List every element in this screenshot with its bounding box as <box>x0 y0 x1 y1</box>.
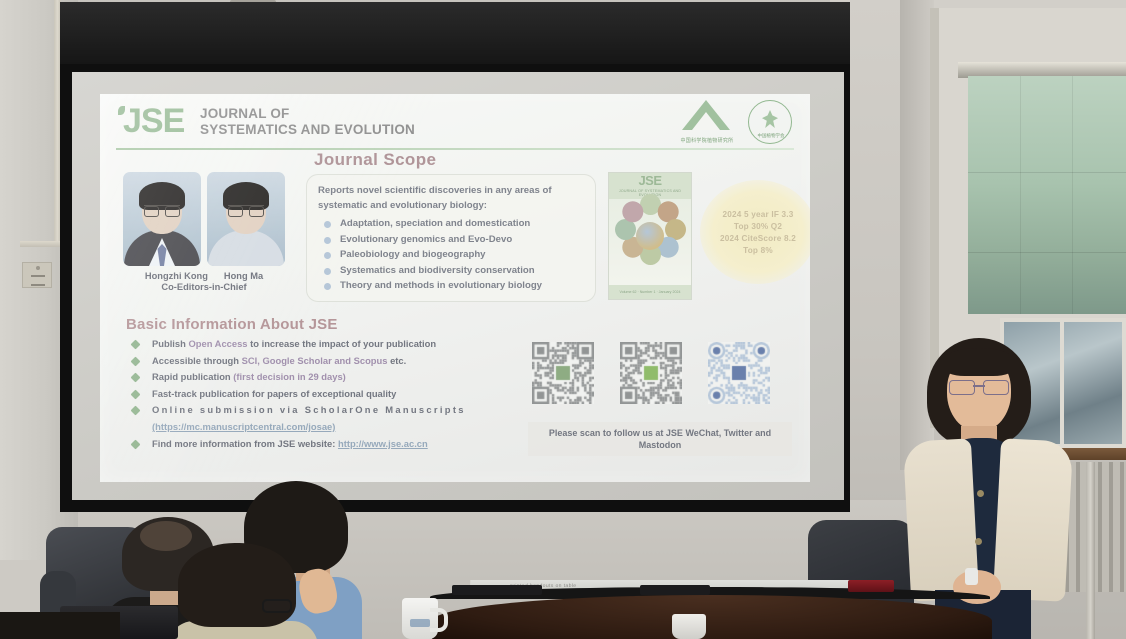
badge-background <box>700 180 810 284</box>
plant-icon <box>762 110 778 128</box>
badge-line-3: 2024 CiteScore 8.2 <box>720 234 796 243</box>
scope-item: Theory and methods in evolutionary biolo… <box>318 278 585 294</box>
badge-line-1: 2024 5 year IF 3.3 <box>723 210 794 219</box>
cover-center-photo <box>636 222 664 250</box>
item-pre: Find more information from JSE website: <box>152 438 338 449</box>
presentation-slide: JSE JOURNAL OF SYSTEMATICS AND EVOLUTION… <box>100 94 810 482</box>
window-blind[interactable] <box>968 76 1126 314</box>
diamond-bullet-icon <box>131 356 141 366</box>
editor1-glasses-icon <box>144 205 180 214</box>
jacket-button <box>977 490 984 497</box>
editor-photo-2 <box>207 172 285 266</box>
scope-item-label: Evolutionary genomics and Evo-Devo <box>340 234 512 245</box>
submission-link-item[interactable]: (https://mc.manuscriptcentral.com/josae) <box>126 421 526 433</box>
jacket-button <box>975 538 982 545</box>
item-pre: Rapid publication <box>152 371 233 382</box>
item-highlight: (first decision in 29 days) <box>233 371 346 382</box>
badge-line-4: Top 8% <box>743 246 773 255</box>
outlet-screw <box>36 266 40 270</box>
scope-item: Evolutionary genomics and Evo-Devo <box>318 232 585 248</box>
basic-info-item: Fast-track publication for papers of exc… <box>126 388 526 400</box>
bullet-dot-icon <box>324 237 331 244</box>
twitter-qr-code[interactable] <box>620 342 682 404</box>
mastodon-qr-code[interactable] <box>708 342 770 404</box>
conference-table <box>432 595 992 639</box>
basic-info-item: Accessible through SCI, Google Scholar a… <box>126 355 526 367</box>
slide-header: JSE JOURNAL OF SYSTEMATICS AND EVOLUTION… <box>100 94 810 152</box>
item-pre: Publish <box>152 338 188 349</box>
scope-item-label: Systematics and biodiversity conservatio… <box>340 265 535 276</box>
journal-cover-image: JSE JOURNAL OF SYSTEMATICS AND EVOLUTION… <box>608 172 692 300</box>
institute-logo-caption: 中国科学院植物研究所 <box>678 137 736 144</box>
editor-photos <box>114 172 294 266</box>
diamond-bullet-icon <box>131 373 141 383</box>
scope-item: Paleobiology and biogeography <box>318 247 585 263</box>
basic-info-item: Publish Open Access to increase the impa… <box>126 338 526 350</box>
editor2-glasses-icon <box>228 205 264 214</box>
triangle-inner <box>692 112 720 130</box>
jse-logo: JSE <box>118 104 184 138</box>
editors-block: Hongzhi Kong Hong Ma Co-Editors-in-Chief <box>114 172 294 292</box>
diamond-bullet-icon <box>131 406 141 416</box>
item-pre: Online submission via ScholarOne Manuscr… <box>152 404 466 415</box>
screen-surface: JSE JOURNAL OF SYSTEMATICS AND EVOLUTION… <box>72 72 844 500</box>
badge-line-2: Top 30% Q2 <box>734 222 782 231</box>
scope-item: Adaptation, speciation and domestication <box>318 216 585 232</box>
basic-information-list: Publish Open Access to increase the impa… <box>126 338 526 454</box>
presenter-fringe <box>943 348 1015 376</box>
bullet-dot-icon <box>324 268 331 275</box>
item-highlight: SCI, Google Scholar and Scopus <box>242 355 388 366</box>
diamond-bullet-icon <box>131 439 141 449</box>
jse-logo-text: JSE <box>123 102 184 140</box>
power-outlet[interactable] <box>22 262 52 288</box>
item-post: etc. <box>387 355 406 366</box>
editor2-shirt <box>208 230 284 266</box>
attendee-2 <box>168 543 318 639</box>
institution-logos: 中国科学院植物研究所 中国植物学会 <box>678 100 792 144</box>
impact-metrics-badge: 2024 5 year IF 3.3 Top 30% Q2 2024 CiteS… <box>700 180 810 284</box>
heating-pipe <box>1086 462 1095 639</box>
scope-item-label: Paleobiology and biogeography <box>340 249 486 260</box>
attendee2-hair <box>178 543 296 627</box>
header-divider <box>116 148 794 150</box>
scope-bullet-list: Adaptation, speciation and domestication… <box>318 216 585 294</box>
second-mug <box>672 614 706 639</box>
bullet-dot-icon <box>324 252 331 259</box>
desk-device-left <box>452 585 542 595</box>
wechat-qr-code[interactable] <box>532 342 594 404</box>
qr-code-row <box>532 342 792 404</box>
presentation-clicker[interactable] <box>965 568 978 585</box>
botanical-society-logo: 中国植物学会 <box>748 100 792 144</box>
screen-valance <box>60 2 850 64</box>
editor-name-2: Hong Ma <box>224 271 263 281</box>
mug-logo <box>410 619 430 627</box>
editor-name-1: Hongzhi Kong <box>145 271 208 281</box>
basic-info-item: Online submission via ScholarOne Manuscr… <box>126 404 526 416</box>
cover-footer: Volume 62 · Number 1 · January 2024 <box>609 285 691 299</box>
coffee-mug <box>402 598 438 639</box>
basic-info-item[interactable]: Find more information from JSE website: … <box>126 438 526 450</box>
wall-conduit-elbow <box>20 241 64 247</box>
scope-intro-text: Reports novel scientific discoveries in … <box>318 184 585 213</box>
meeting-room: JSE JOURNAL OF SYSTEMATICS AND EVOLUTION… <box>0 0 1126 639</box>
society-logo-caption: 中国植物学会 <box>749 133 793 139</box>
scope-item: Systematics and biodiversity conservatio… <box>318 263 585 279</box>
presenter-glasses-icon <box>949 380 1009 393</box>
item-post: to increase the impact of your publicati… <box>248 338 437 349</box>
item-pre: Accessible through <box>152 355 242 366</box>
desk-device-right <box>640 585 710 595</box>
item-highlight: Open Access <box>188 338 247 349</box>
editor-names: Hongzhi Kong Hong Ma <box>114 271 294 281</box>
foreground-shadow <box>0 612 120 639</box>
qr-caption: Please scan to follow us at JSE WeChat, … <box>528 422 792 456</box>
screen-border: JSE JOURNAL OF SYSTEMATICS AND EVOLUTION… <box>60 64 850 512</box>
diamond-bullet-icon <box>131 340 141 350</box>
bullet-dot-icon <box>324 283 331 290</box>
presenter-jacket-right <box>993 438 1073 602</box>
journal-scope-box: Reports novel scientific discoveries in … <box>306 174 596 302</box>
basic-info-item: Rapid publication (first decision in 29 … <box>126 371 526 383</box>
projection-screen-assembly: JSE JOURNAL OF SYSTEMATICS AND EVOLUTION… <box>60 2 850 514</box>
journal-title-line1: JOURNAL OF <box>200 106 415 122</box>
journal-scope-heading: Journal Scope <box>314 150 436 170</box>
scope-item-label: Adaptation, speciation and domestication <box>340 218 530 229</box>
journal-title-line2: SYSTEMATICS AND EVOLUTION <box>200 122 415 138</box>
item-pre: Fast-track publication for papers of exc… <box>152 388 396 399</box>
attendee2-glasses-icon <box>262 599 292 613</box>
cover-logo-text: JSE <box>609 173 691 189</box>
journal-website-url: http://www.jse.ac.cn <box>338 438 428 449</box>
red-notebook <box>848 580 894 592</box>
scope-item-label: Theory and methods in evolutionary biolo… <box>340 280 542 291</box>
cover-petal-photo <box>622 201 643 222</box>
diamond-bullet-icon <box>131 389 141 399</box>
journal-title: JOURNAL OF SYSTEMATICS AND EVOLUTION <box>200 106 415 139</box>
editor-photo-1 <box>123 172 201 266</box>
institute-of-botany-logo: 中国科学院植物研究所 <box>678 100 736 144</box>
submission-url: (https://mc.manuscriptcentral.com/josae) <box>152 421 335 432</box>
bullet-dot-icon <box>324 221 331 228</box>
editor-role: Co-Editors-in-Chief <box>114 282 294 292</box>
basic-information-heading: Basic Information About JSE <box>126 316 338 333</box>
